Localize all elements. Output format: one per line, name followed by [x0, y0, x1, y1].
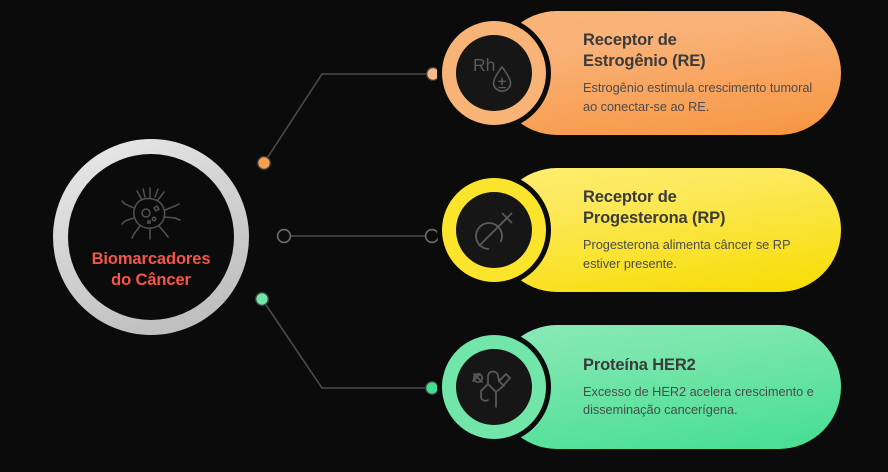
card-description-estrogen: Estrogênio estimula crescimento tumoral … [583, 79, 815, 115]
card-title-line1: Receptor de [583, 188, 677, 206]
svg-text:Rh: Rh [473, 55, 495, 75]
node-core [456, 192, 532, 268]
connector-dot-hub-her2 [256, 293, 269, 306]
hub-inner-core: Biomarcadores do Câncer [68, 154, 234, 320]
connector-progesterone [278, 230, 439, 243]
card-description-progesterone: Progesterona alimenta câncer se RP estiv… [583, 236, 815, 272]
rh-blood-drop-icon: Rh [466, 45, 522, 101]
hub-label-line1: Biomarcadores [92, 250, 211, 268]
card-title-estrogen: Receptor de Estrogênio (RE) [583, 30, 815, 72]
hub-label-line2: do Câncer [111, 271, 191, 289]
node-core [456, 349, 532, 425]
node-core: Rh [456, 35, 532, 111]
cancer-cell-icon [120, 184, 182, 242]
card-description-her2: Excesso de HER2 acelera crescimento e di… [583, 383, 815, 419]
connector-dot-hub-estrogen [258, 157, 271, 170]
card-title-progesterone: Receptor de Progesterona (RP) [583, 187, 815, 229]
card-title-line1: Receptor de [583, 31, 677, 49]
protein-molecule-icon [466, 359, 522, 415]
connector-dot-hub-progesterone [278, 230, 291, 243]
connector-estrogen [258, 68, 440, 170]
card-title-her2: Proteína HER2 [583, 355, 815, 376]
node-estrogen-receptor[interactable]: Rh [442, 21, 546, 125]
hub-label: Biomarcadores do Câncer [76, 249, 226, 290]
hub-node-cancer-biomarkers[interactable]: Biomarcadores do Câncer [53, 139, 249, 335]
diagram-canvas: Receptor de Estrogênio (RE) Estrogênio e… [0, 0, 888, 472]
card-title-line2: Estrogênio (RE) [583, 52, 705, 70]
card-title-line2: Progesterona (RP) [583, 209, 725, 227]
node-her2-protein[interactable] [442, 335, 546, 439]
card-title-line1: Proteína HER2 [583, 356, 696, 374]
node-progesterone-receptor[interactable] [442, 178, 546, 282]
connector-her2 [256, 293, 439, 395]
gender-symbol-slashed-icon [466, 202, 522, 258]
